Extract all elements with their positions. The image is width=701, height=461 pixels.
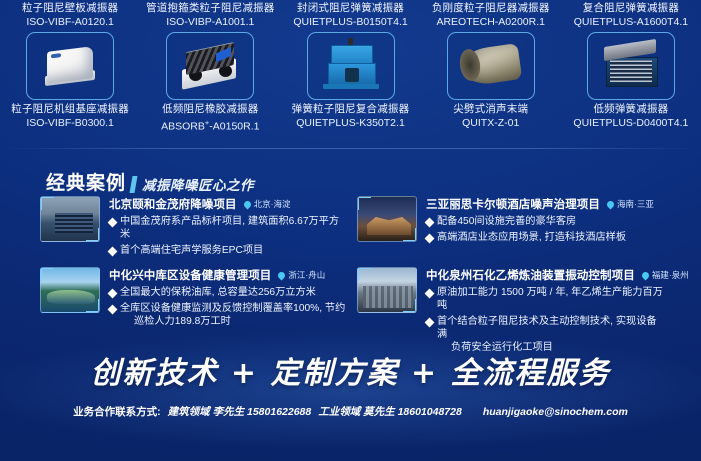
product-code: QUIETPLUS-D0400T4.1 [561, 116, 701, 130]
product-code: QUIETPLUS-K350T2.1 [280, 116, 420, 130]
diamond-bullet-icon [108, 288, 118, 298]
diamond-bullet-icon [108, 246, 118, 256]
product-image-row [0, 32, 701, 100]
product-card-base-damper[interactable]: 粒子阻尼机组基座减振器 ISO-VIBF-B0300.1 [0, 103, 140, 134]
diamond-bullet-icon [425, 217, 435, 227]
location-pin-icon [606, 199, 616, 209]
case-bullet-line2: 巡检人力189.8万工时 [120, 315, 345, 328]
location-pin-icon [242, 199, 252, 209]
product-title: 负刚度粒子阻尼器减振器 [422, 2, 560, 15]
low-frequency-spring-damper-photo[interactable] [587, 32, 675, 100]
case-location-label: 北京·海淀 [254, 198, 291, 210]
diamond-bullet-icon [108, 217, 118, 227]
product-code: QUITX-Z-01 [421, 116, 561, 130]
case-bullet-text: 全库区设备健康监测及反馈控制覆盖率100%, 节约巡检人力189.8万工时 [120, 302, 345, 328]
product-card-rubber-damper[interactable]: 低频阻尼橡胶减振器 ABSORB+-A0150R.1 [140, 103, 280, 134]
case-location: 海南·三亚 [607, 198, 654, 210]
slogan-text: 创新技术 + 定制方案 + 全流程服务 [0, 348, 701, 392]
product-title: 尖劈式消声末端 [421, 103, 561, 116]
contact-building-segment: 建筑领域 李先生 15801622688 [168, 404, 312, 419]
cone-silencer-photo[interactable] [447, 32, 535, 100]
case-bullet: 全库区设备健康监测及反馈控制覆盖率100%, 节约巡检人力189.8万工时 [109, 302, 348, 328]
case-bullet-text: 原油加工能力 1500 万吨 / 年, 年乙烯生产能力百万吨 [437, 286, 665, 312]
product-card-cone-silencer[interactable]: 尖劈式消声末端 QUITX-Z-01 [421, 103, 561, 134]
case-location-label: 海南·三亚 [617, 198, 654, 210]
product-code: ISO-VIBP-A1001.1 [141, 15, 279, 29]
product-code: QUIETPLUS-B0150T4.1 [281, 15, 419, 29]
low-frequency-spring-damper-illustration [588, 33, 674, 99]
diamond-bullet-icon [425, 317, 435, 327]
product-title: 管道抱箍类粒子阻尼减振器 [141, 2, 279, 15]
diamond-bullet-icon [425, 233, 435, 243]
product-row-top: 粒子阻尼壁板减振器 ISO-VIBF-A0120.1 管道抱箍类粒子阻尼减振器 … [0, 2, 701, 29]
case-bullet-text: 配备450间设施完善的豪华客房 [437, 215, 576, 228]
product-title: 低频弹簧减振器 [561, 103, 701, 116]
product-card-composite-spring-damper[interactable]: 复合阻尼弹簧减振器 QUIETPLUS-A1600T4.1 [561, 2, 701, 29]
case-location: 福建·泉州 [642, 269, 689, 281]
quanzhou-petrochemical-thumbnail[interactable] [357, 267, 417, 313]
case-bullet-text: 全国最大的保税油库, 总容量达256万立方米 [120, 286, 316, 299]
case-location: 浙江·舟山 [278, 269, 325, 281]
product-code: ABSORB+-A0150R.1 [140, 116, 280, 134]
diamond-bullet-icon [425, 288, 435, 298]
case-bullet: 中国金茂府系产品标杆项目, 建筑面积6.67万平方米 [109, 215, 348, 241]
pipe-clamp-damper-illustration [167, 33, 253, 99]
product-title: 复合阻尼弹簧减振器 [562, 2, 700, 15]
product-code: AREOTECH-A0200R.1 [422, 15, 560, 29]
case-bullet: 首个高端住宅声学服务EPC项目 [109, 244, 348, 257]
case-bullet: 配备450间设施完善的豪华客房 [426, 215, 665, 228]
poster-page: 粒子阻尼壁板减振器 ISO-VIBF-A0120.1 管道抱箍类粒子阻尼减振器 … [0, 0, 701, 461]
case-bullet: 原油加工能力 1500 万吨 / 年, 年乙烯生产能力百万吨 [426, 286, 665, 312]
product-card-pipe-clamp-damper[interactable]: 管道抱箍类粒子阻尼减振器 ISO-VIBP-A1001.1 [140, 2, 280, 29]
list-item[interactable]: 中化泉州石化乙烯炼油装置振动控制项目 福建·泉州 原油加工能力 1500 万吨 … [357, 267, 665, 354]
cases-heading: 经典案例 [46, 168, 126, 195]
product-code: ISO-VIBF-A0120.1 [1, 15, 139, 29]
product-image-cell [561, 32, 701, 100]
product-card-negative-stiffness-damper[interactable]: 负刚度粒子阻尼器减振器 AREOTECH-A0200R.1 [421, 2, 561, 29]
product-title: 低频阻尼橡胶减振器 [140, 103, 280, 116]
diamond-bullet-icon [108, 304, 118, 314]
product-code: ISO-VIBF-B0300.1 [0, 116, 140, 130]
product-image-cell [421, 32, 561, 100]
location-pin-icon [277, 270, 287, 280]
case-bullet-line1: 全库区设备健康监测及反馈控制覆盖率100%, 节约 [120, 303, 345, 314]
product-title: 粒子阻尼壁板减振器 [1, 2, 139, 15]
cone-silencer-illustration [448, 33, 534, 99]
contact-label: 业务合作联系方式: [73, 404, 161, 419]
case-location-label: 福建·泉州 [652, 269, 689, 281]
product-code-base: ABSORB [161, 121, 205, 133]
case-title: 中化兴中库区设备健康管理项目 [109, 267, 271, 283]
case-bullet-text: 中国金茂府系产品标杆项目, 建筑面积6.67万平方米 [120, 215, 348, 241]
product-card-wall-panel-damper[interactable]: 粒子阻尼壁板减振器 ISO-VIBF-A0120.1 [0, 2, 140, 29]
product-title: 封闭式阻尼弹簧减振器 [281, 2, 419, 15]
product-image-cell [140, 32, 280, 100]
product-code: QUIETPLUS-A1600T4.1 [562, 15, 700, 29]
product-card-enclosed-spring-damper[interactable]: 封闭式阻尼弹簧减振器 QUIETPLUS-B0150T4.1 [280, 2, 420, 29]
contact-bar: 业务合作联系方式: 建筑领域 李先生 15801622688 工业领域 莫先生 … [0, 404, 701, 419]
enclosed-spring-damper-photo[interactable] [307, 32, 395, 100]
heading-accent-bar [130, 176, 138, 193]
list-item[interactable]: 北京颐和金茂府降噪项目 北京·海淀 中国金茂府系产品标杆项目, 建筑面积6.67… [40, 196, 348, 257]
product-code-tail: -A0150R.1 [209, 121, 259, 133]
cases-heading-group: 经典案例 减振降噪匠心之作 [46, 168, 254, 195]
list-item[interactable]: 三亚丽思卡尔顿酒店噪声治理项目 海南·三亚 配备450间设施完善的豪华客房 高端… [357, 196, 665, 257]
pipe-clamp-damper-photo[interactable] [166, 32, 254, 100]
product-title: 弹簧粒子阻尼复合减振器 [280, 103, 420, 116]
contact-email[interactable]: huanjigaoke@sinochem.com [483, 406, 628, 418]
case-bullet: 高端酒店业态应用场景, 打造科技酒店样板 [426, 231, 665, 244]
case-list: 北京颐和金茂府降噪项目 北京·海淀 中国金茂府系产品标杆项目, 建筑面积6.67… [40, 196, 665, 354]
location-pin-icon [640, 270, 650, 280]
case-location-label: 浙江·舟山 [288, 269, 325, 281]
case-location: 北京·海淀 [244, 198, 291, 210]
case-bullet-line1: 首个结合粒子阻尼技术及主动控制技术, 实现设备满 [437, 316, 657, 340]
xingzhong-depot-thumbnail[interactable] [40, 267, 100, 313]
case-title: 中化泉州石化乙烯炼油装置振动控制项目 [426, 267, 635, 283]
product-image-cell [0, 32, 140, 100]
product-row-bottom: 粒子阻尼机组基座减振器 ISO-VIBF-B0300.1 低频阻尼橡胶减振器 A… [0, 103, 701, 134]
beijing-yihe-jinmao-thumbnail[interactable] [40, 196, 100, 242]
case-title: 三亚丽思卡尔顿酒店噪声治理项目 [426, 196, 600, 212]
product-image-cell [280, 32, 420, 100]
wall-panel-damper-illustration [27, 33, 113, 99]
case-bullet-text: 高端酒店业态应用场景, 打造科技酒店样板 [437, 231, 626, 244]
cases-subheading: 减振降噪匠心之作 [142, 174, 254, 195]
sanya-ritz-carlton-thumbnail[interactable] [357, 196, 417, 242]
section-divider [0, 148, 701, 149]
case-title: 北京颐和金茂府降噪项目 [109, 196, 237, 212]
wall-panel-damper-photo[interactable] [26, 32, 114, 100]
product-card-spring-particle-composite-damper[interactable]: 弹簧粒子阻尼复合减振器 QUIETPLUS-K350T2.1 [280, 103, 420, 134]
list-item[interactable]: 中化兴中库区设备健康管理项目 浙江·舟山 全国最大的保税油库, 总容量达256万… [40, 267, 348, 354]
case-bullet: 全国最大的保税油库, 总容量达256万立方米 [109, 286, 348, 299]
product-card-low-frequency-spring-damper[interactable]: 低频弹簧减振器 QUIETPLUS-D0400T4.1 [561, 103, 701, 134]
product-grid: 粒子阻尼壁板减振器 ISO-VIBF-A0120.1 管道抱箍类粒子阻尼减振器 … [0, 0, 701, 146]
case-bullet-text: 首个高端住宅声学服务EPC项目 [120, 244, 263, 257]
enclosed-spring-damper-illustration [308, 33, 394, 99]
contact-industry-segment: 工业领域 莫先生 18601048728 [318, 404, 462, 419]
product-title: 粒子阻尼机组基座减振器 [0, 103, 140, 116]
